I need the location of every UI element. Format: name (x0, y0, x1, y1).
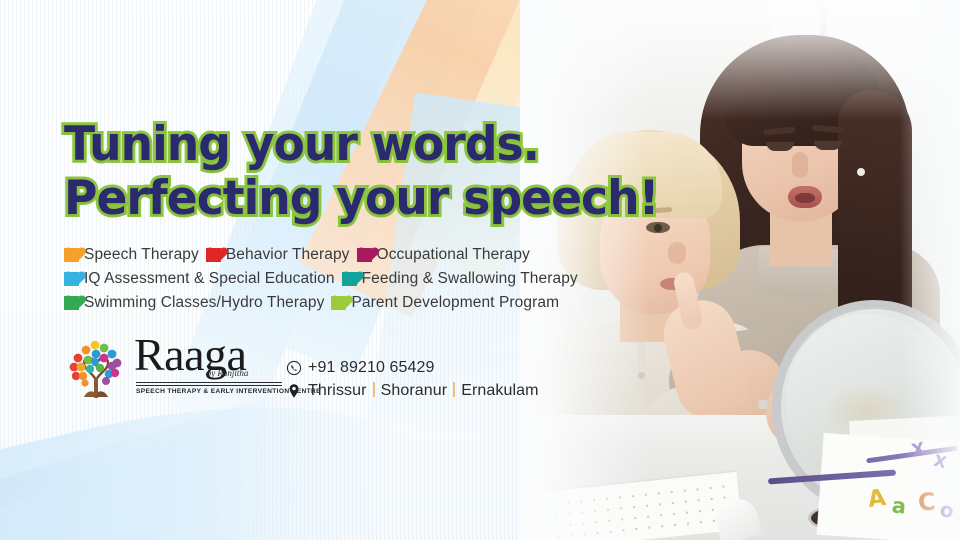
brand-byline: by Ranjitha (207, 368, 249, 378)
service-item-parent-development: Parent Development Program (331, 294, 559, 312)
service-item-behavior-therapy: Behavior Therapy (206, 246, 350, 264)
therapist-earring (857, 168, 865, 176)
therapist-mouth-inner (795, 193, 815, 203)
contact-block: +91 89210 65429 ThrissurShoranurErnakula… (286, 356, 539, 402)
service-label: Occupational Therapy (377, 246, 530, 264)
heart-icon (331, 296, 346, 310)
location-separator (373, 382, 375, 397)
brand-divider-lower (136, 385, 282, 386)
service-label: Parent Development Program (351, 294, 559, 312)
heart-icon (342, 272, 357, 286)
promotional-banner: A a C o X X Tuning your words. Perfectin… (0, 0, 960, 540)
location-name: Ernakulam (461, 382, 538, 399)
heart-icon (64, 296, 79, 310)
service-item-iq-assessment: IQ Assessment & Special Education (64, 270, 335, 288)
services-row: IQ Assessment & Special Education Feedin… (64, 267, 604, 291)
brand-logo: Raaga by Ranjitha SPEECH THERAPY & EARLY… (62, 336, 282, 404)
photo-fade-right (900, 0, 960, 540)
location-name: Thrissur (308, 382, 367, 399)
child-nose (668, 242, 686, 264)
location-separator (453, 382, 455, 397)
therapist-nose (792, 152, 808, 178)
services-row: Speech Therapy Behavior Therapy Occupati… (64, 243, 604, 267)
worksheet-letter: A (866, 485, 887, 513)
brand-wordmark: Raaga by Ranjitha (134, 332, 246, 378)
brand-tagline: SPEECH THERAPY & EARLY INTERVENTION CENT… (136, 388, 288, 395)
location-name: Shoranur (381, 382, 448, 399)
map-pin-icon (286, 383, 302, 399)
service-label: IQ Assessment & Special Education (84, 270, 335, 288)
heart-icon (64, 272, 79, 286)
services-list: Speech Therapy Behavior Therapy Occupati… (64, 243, 604, 315)
contact-location-row[interactable]: ThrissurShoranurErnakulam (286, 379, 539, 402)
service-item-occupational-therapy: Occupational Therapy (357, 246, 530, 264)
headline-line-1: Tuning your words. (64, 118, 568, 172)
heart-tree-logo-icon (62, 336, 130, 402)
service-item-speech-therapy: Speech Therapy (64, 246, 199, 264)
contact-phone-row[interactable]: +91 89210 65429 (286, 356, 539, 379)
services-row: Swimming Classes/Hydro Therapy Parent De… (64, 291, 604, 315)
service-label: Swimming Classes/Hydro Therapy (84, 294, 324, 312)
service-label: Speech Therapy (84, 246, 199, 264)
locations: ThrissurShoranurErnakulam (308, 382, 539, 400)
heart-icon (64, 248, 79, 262)
heart-icon (357, 248, 372, 262)
phone-number: +91 89210 65429 (308, 359, 435, 377)
headline-line-2: Perfecting your speech! (64, 172, 568, 226)
headline: Tuning your words. Perfecting your speec… (64, 118, 584, 226)
service-label: Feeding & Swallowing Therapy (362, 270, 578, 288)
brand-divider-upper (136, 382, 282, 383)
heart-icon (206, 248, 221, 262)
service-item-feeding-swallowing: Feeding & Swallowing Therapy (342, 270, 578, 288)
phone-circle-icon (286, 360, 302, 376)
service-item-swimming-hydro: Swimming Classes/Hydro Therapy (64, 294, 324, 312)
service-label: Behavior Therapy (226, 246, 350, 264)
